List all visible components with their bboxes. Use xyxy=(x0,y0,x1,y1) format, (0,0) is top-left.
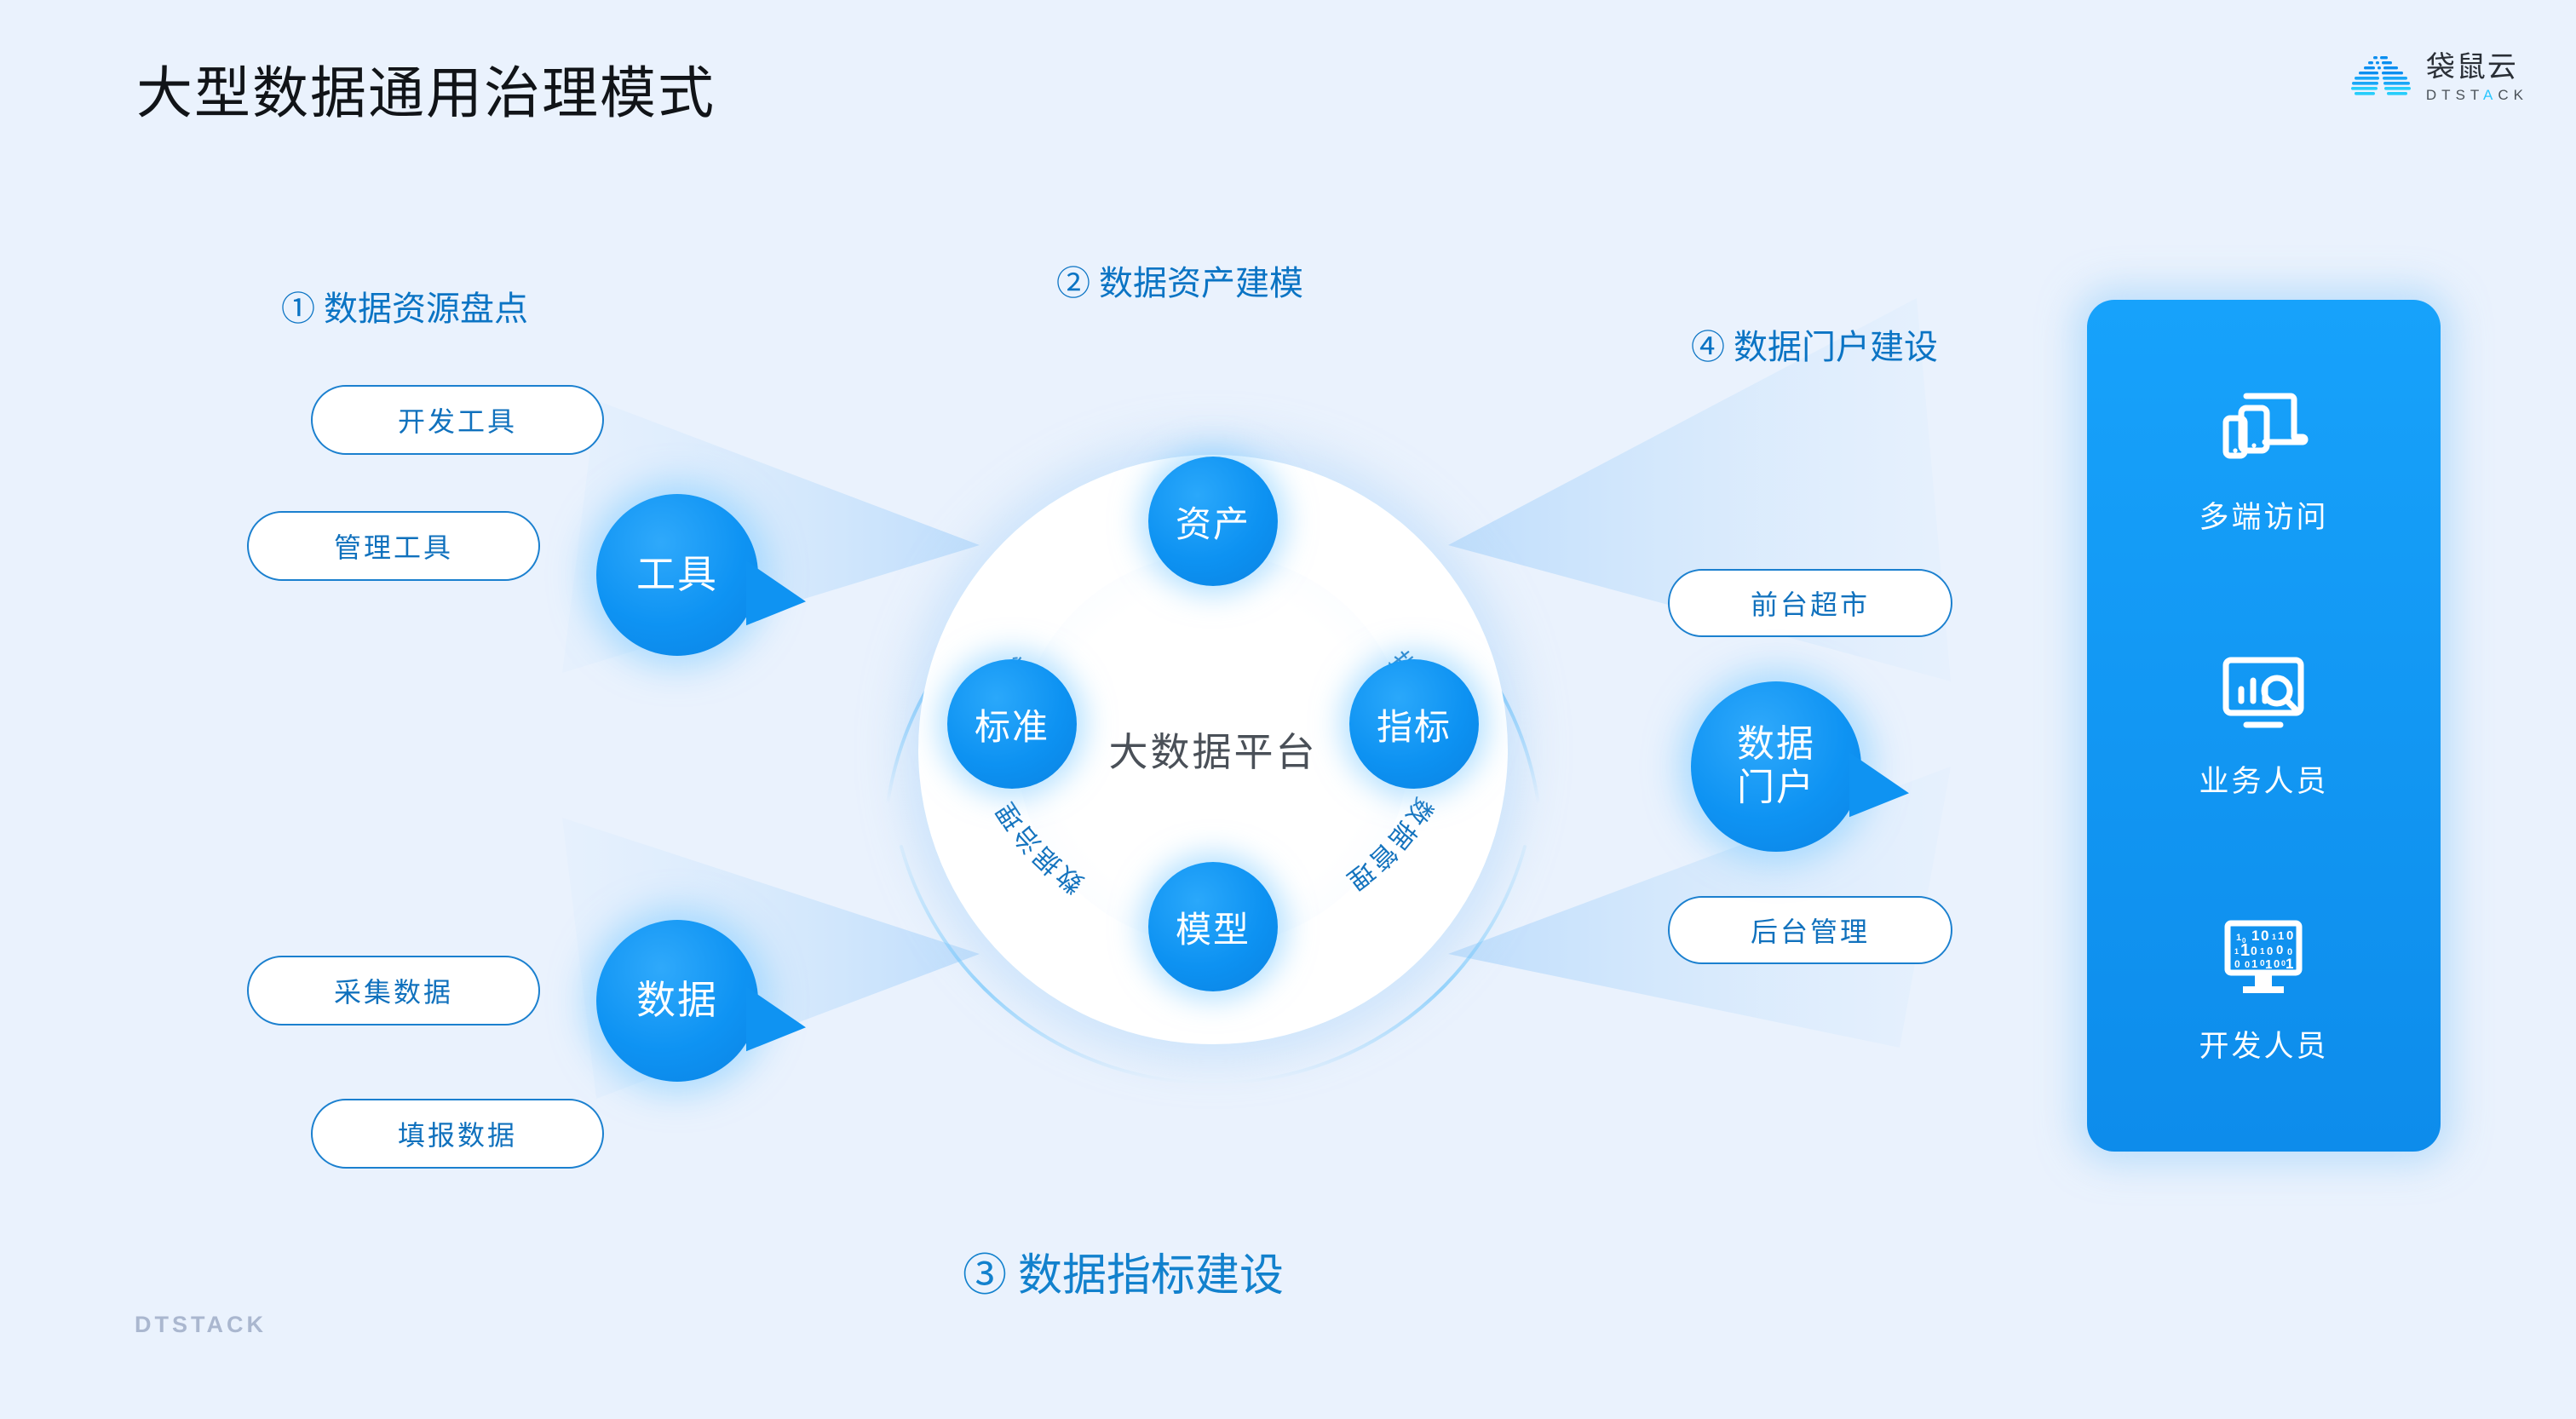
svg-text:1: 1 xyxy=(2286,956,2293,972)
pill-report-data[interactable]: 填报数据 xyxy=(311,1099,604,1169)
bubble-tool[interactable]: 工具 xyxy=(596,494,758,656)
section-heading-1: ① 数据资源盘点 xyxy=(281,281,528,330)
svg-text:1: 1 xyxy=(2251,957,2257,970)
svg-text:0: 0 xyxy=(2251,944,2257,957)
svg-text:1: 1 xyxy=(2260,947,2265,957)
brand-en-accent: A xyxy=(2483,87,2498,103)
brand-logo: 袋鼠云 DTSTACK xyxy=(2348,53,2528,102)
bubble-data-portal[interactable]: 数据 门户 xyxy=(1691,681,1861,852)
dashboard-search-icon xyxy=(2216,650,2311,738)
binary-monitor-icon: 10 10 11 0 11 01 00 0 00 10 10 01 1 xyxy=(2216,915,2311,1003)
node-standard[interactable]: 标准 xyxy=(947,659,1077,789)
pill-dev-tool[interactable]: 开发工具 xyxy=(311,385,604,455)
bubble-tool-pointer xyxy=(746,560,806,625)
watermark-dtstack: DTSTACK xyxy=(135,1312,267,1338)
brand-en-part2: CK xyxy=(2498,87,2528,103)
persona-panel: 多端访问 业务人员 10 10 xyxy=(2087,300,2441,1152)
svg-text:1: 1 xyxy=(2251,928,2259,944)
slide-canvas: 大型数据通用治理模式 xyxy=(0,0,2576,1419)
svg-text:0: 0 xyxy=(2276,943,2283,957)
svg-text:1: 1 xyxy=(2265,957,2272,972)
svg-text:0: 0 xyxy=(2234,958,2240,970)
section-heading-2: ② 数据资产建模 xyxy=(1056,256,1303,305)
center-ring: 数据开发 指标体系 数据治理 数据管理 大数据平台 资产 指标 模型 标准 xyxy=(867,404,1559,1095)
node-metric[interactable]: 指标 xyxy=(1349,659,1479,789)
svg-text:0: 0 xyxy=(2286,928,2293,943)
brand-name-cn: 袋鼠云 xyxy=(2426,53,2528,82)
section-heading-4: ④ 数据门户建设 xyxy=(1691,319,1938,369)
panel-label-business-user: 业务人员 xyxy=(2199,757,2328,801)
svg-text:1: 1 xyxy=(2278,929,2284,942)
bubble-portal-pointer xyxy=(1849,752,1909,817)
bubble-tool-label: 工具 xyxy=(636,553,718,598)
node-asset[interactable]: 资产 xyxy=(1148,457,1278,586)
panel-item-developer[interactable]: 10 10 11 0 11 01 00 0 00 10 10 01 1 开发人员 xyxy=(2199,915,2328,1066)
bubble-data[interactable]: 数据 xyxy=(596,920,758,1082)
bubble-data-label: 数据 xyxy=(636,979,718,1024)
svg-text:1: 1 xyxy=(2234,947,2239,956)
bubble-portal-line1: 数据 xyxy=(1737,723,1815,767)
kangaroo-cloud-logo-icon xyxy=(2348,53,2414,102)
node-model[interactable]: 模型 xyxy=(1148,862,1278,991)
panel-item-multi-device[interactable]: 多端访问 xyxy=(2199,386,2328,537)
panel-label-multi-device: 多端访问 xyxy=(2199,493,2328,537)
panel-item-business-user[interactable]: 业务人员 xyxy=(2199,650,2328,801)
bubble-data-pointer xyxy=(746,986,806,1051)
svg-text:1: 1 xyxy=(2240,941,2250,960)
page-title: 大型数据通用治理模式 xyxy=(136,48,716,129)
bubble-portal-line2: 门户 xyxy=(1737,767,1815,810)
svg-text:0: 0 xyxy=(2245,960,2250,970)
pill-front-market[interactable]: 前台超市 xyxy=(1668,569,1952,637)
svg-text:1: 1 xyxy=(2296,961,2300,969)
pill-mgmt-tool[interactable]: 管理工具 xyxy=(247,511,540,581)
multi-device-icon xyxy=(2216,386,2311,474)
brand-en-part1: DTST xyxy=(2426,87,2483,103)
section-heading-3: ③ 数据指标建设 xyxy=(963,1239,1284,1303)
svg-text:0: 0 xyxy=(2261,928,2268,944)
svg-text:1: 1 xyxy=(2272,933,2276,941)
pill-collect-data[interactable]: 采集数据 xyxy=(247,956,540,1025)
svg-text:0: 0 xyxy=(2267,945,2273,957)
pill-back-manage[interactable]: 后台管理 xyxy=(1668,896,1952,964)
svg-text:0: 0 xyxy=(2274,957,2280,970)
brand-name-en: DTSTACK xyxy=(2426,88,2528,102)
panel-label-developer: 开发人员 xyxy=(2199,1022,2328,1066)
